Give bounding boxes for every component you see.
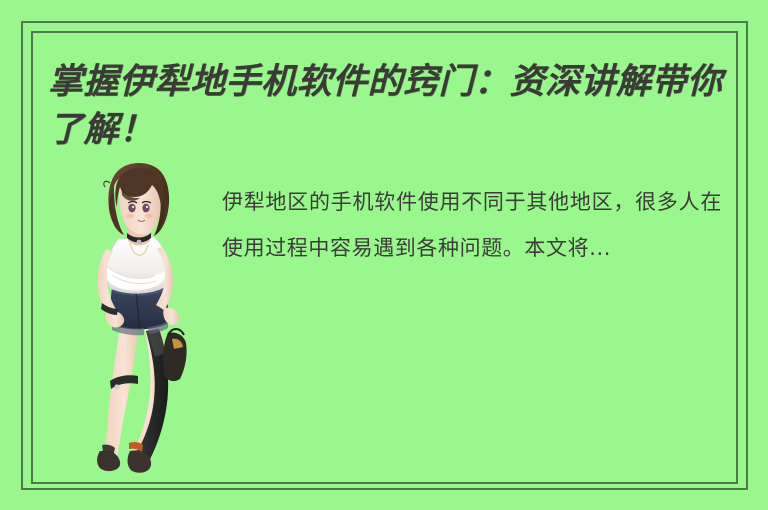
blush-left [126,214,134,218]
eye-highlight-right [146,206,148,208]
hair-stray [104,181,110,187]
eye-highlight-left [132,206,134,208]
article-title: 掌握伊犁地手机软件的窍门：资深讲解带你了解！ [48,58,738,153]
eye-left [128,204,135,213]
article-summary: 伊犁地区的手机软件使用不同于其他地区，很多人在使用过程中容易遇到各种问题。本文将… [222,180,722,272]
garter-buckle [114,384,119,389]
eye-right [142,204,149,213]
article-card: 掌握伊犁地手机软件的窍门：资深讲解带你了解！ [0,0,768,510]
blush-right [145,214,153,218]
choker-pendant [137,240,142,245]
anime-girl-illustration [72,163,212,475]
